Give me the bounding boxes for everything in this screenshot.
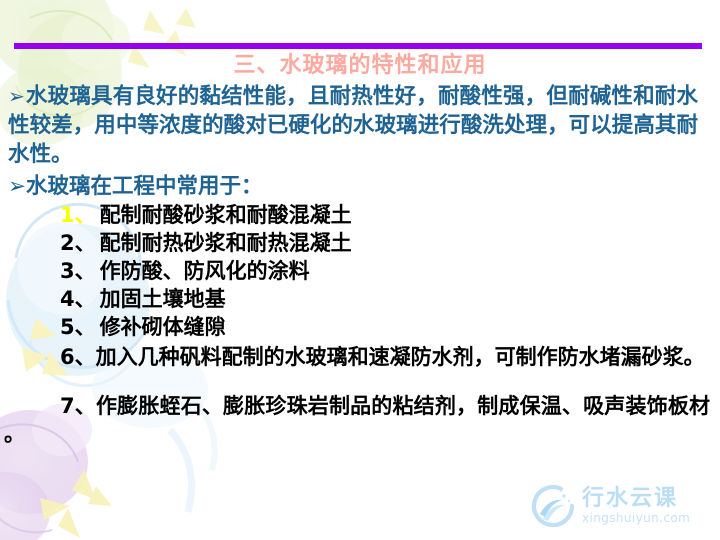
slide-body: ➢水玻璃具有良好的黏结性能，且耐热性好，耐酸性强，但耐碱性和耐水性较差，用中等浓… — [0, 82, 720, 469]
list-item-wrapping: 7、作膨胀蛭石、膨胀珍珠岩制品的粘结剂，制成保温、吸声装饰板材 。 — [0, 392, 720, 448]
list-item-number: 2、 — [60, 229, 96, 257]
list-item-number: 3、 — [60, 257, 96, 285]
slide-canvas: 三、水玻璃的特性和应用 ➢水玻璃具有良好的黏结性能，且耐热性好，耐酸性强，但耐碱… — [0, 0, 720, 540]
bullet-arrow-icon: ➢ — [8, 84, 25, 108]
bullet-paragraph-2: ➢水玻璃在工程中常用于： — [0, 172, 720, 201]
list-item-label: 配制耐酸砂浆和耐酸混凝土 — [100, 203, 352, 227]
list-item-number: 1、 — [60, 201, 96, 229]
list-item-label: 作防酸、防风化的涂料 — [100, 259, 310, 283]
bullet-paragraph-2-text: 水玻璃在工程中常用于： — [26, 174, 263, 199]
bullet-paragraph-1-text: 水玻璃具有良好的黏结性能，且耐热性好，耐酸性强，但耐碱性和耐水性较差，用中等浓度… — [8, 84, 698, 167]
watermark-brand-cn: 行水云课 — [582, 487, 690, 510]
wave-circle-logo-icon — [528, 481, 578, 531]
watermark: 行水云课 xingshuiyun.com — [528, 480, 710, 532]
list-item-number: 4、 — [60, 285, 96, 313]
list-item: 1、配制耐酸砂浆和耐酸混凝土 — [0, 201, 720, 229]
deco-yellow-rays-bottom — [40, 470, 112, 538]
list-item: 5、修补砌体缝隙 — [0, 313, 720, 341]
slide-title: 三、水玻璃的特性和应用 — [0, 53, 720, 79]
watermark-brand-url: xingshuiyun.com — [582, 512, 690, 525]
list-item-label: 修补砌体缝隙 — [100, 315, 226, 339]
list-item-label: 配制耐热砂浆和耐热混凝土 — [100, 231, 352, 255]
title-divider-rule — [14, 43, 702, 49]
bullet-paragraph-1: ➢水玻璃具有良好的黏结性能，且耐热性好，耐酸性强，但耐碱性和耐水性较差，用中等浓… — [0, 82, 720, 169]
bullet-arrow-icon: ➢ — [8, 174, 26, 199]
watermark-text: 行水云课 xingshuiyun.com — [582, 487, 690, 525]
list-item: 4、加固土壤地基 — [0, 285, 720, 313]
list-item-number: 5、 — [60, 313, 96, 341]
list-item-label: 加固土壤地基 — [100, 287, 226, 311]
list-item-wrapping: 6、加入几种矾料配制的水玻璃和速凝防水剂，可制作防水堵漏砂浆。 — [0, 343, 720, 371]
list-item: 2、配制耐热砂浆和耐热混凝土 — [0, 229, 720, 257]
list-item: 3、作防酸、防风化的涂料 — [0, 257, 720, 285]
numbered-list: 1、配制耐酸砂浆和耐酸混凝土 2、配制耐热砂浆和耐热混凝土 3、作防酸、防风化的… — [0, 201, 720, 341]
